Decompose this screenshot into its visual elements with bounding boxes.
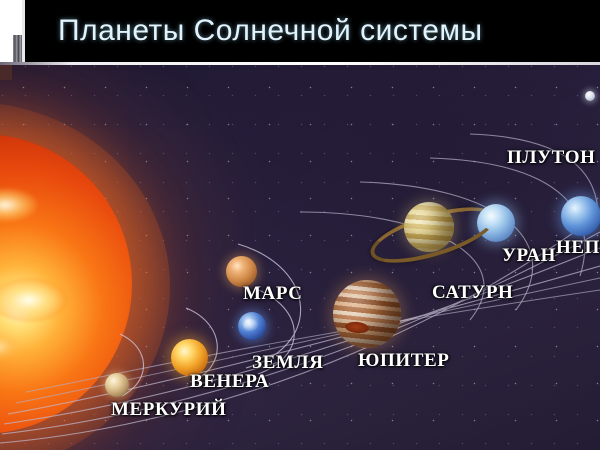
label-uranus: УРАН bbox=[502, 245, 556, 267]
solar-system-image: МЕРКУРИЙ ВЕНЕРА ЗЕМЛЯ МАРС ЮПИТЕР САТУРН… bbox=[0, 62, 600, 450]
image-top-border bbox=[0, 62, 600, 65]
label-neptune: НЕПТ bbox=[556, 237, 600, 259]
label-earth: ЗЕМЛЯ bbox=[252, 352, 324, 374]
page-title: Планеты Солнечной системы bbox=[58, 12, 578, 50]
planet-neptune bbox=[561, 196, 600, 236]
planet-earth bbox=[238, 312, 266, 340]
label-pluto: ПЛУТОН bbox=[507, 147, 595, 169]
presentation-slide: Планеты Солнечной системы bbox=[0, 0, 600, 450]
planet-jupiter bbox=[333, 280, 401, 348]
great-red-spot-icon bbox=[344, 321, 369, 334]
planet-mercury bbox=[105, 373, 129, 397]
slide-edge-tab bbox=[22, 0, 25, 62]
label-saturn: САТУРН bbox=[432, 282, 513, 304]
label-jupiter: ЮПИТЕР bbox=[358, 350, 450, 372]
label-venus: ВЕНЕРА bbox=[190, 371, 269, 393]
slide-title-bar: Планеты Солнечной системы bbox=[0, 0, 600, 62]
slide-handle-icon[interactable] bbox=[13, 35, 22, 62]
planet-pluto bbox=[585, 91, 595, 101]
label-mars: МАРС bbox=[243, 283, 303, 305]
label-mercury: МЕРКУРИЙ bbox=[111, 399, 227, 421]
